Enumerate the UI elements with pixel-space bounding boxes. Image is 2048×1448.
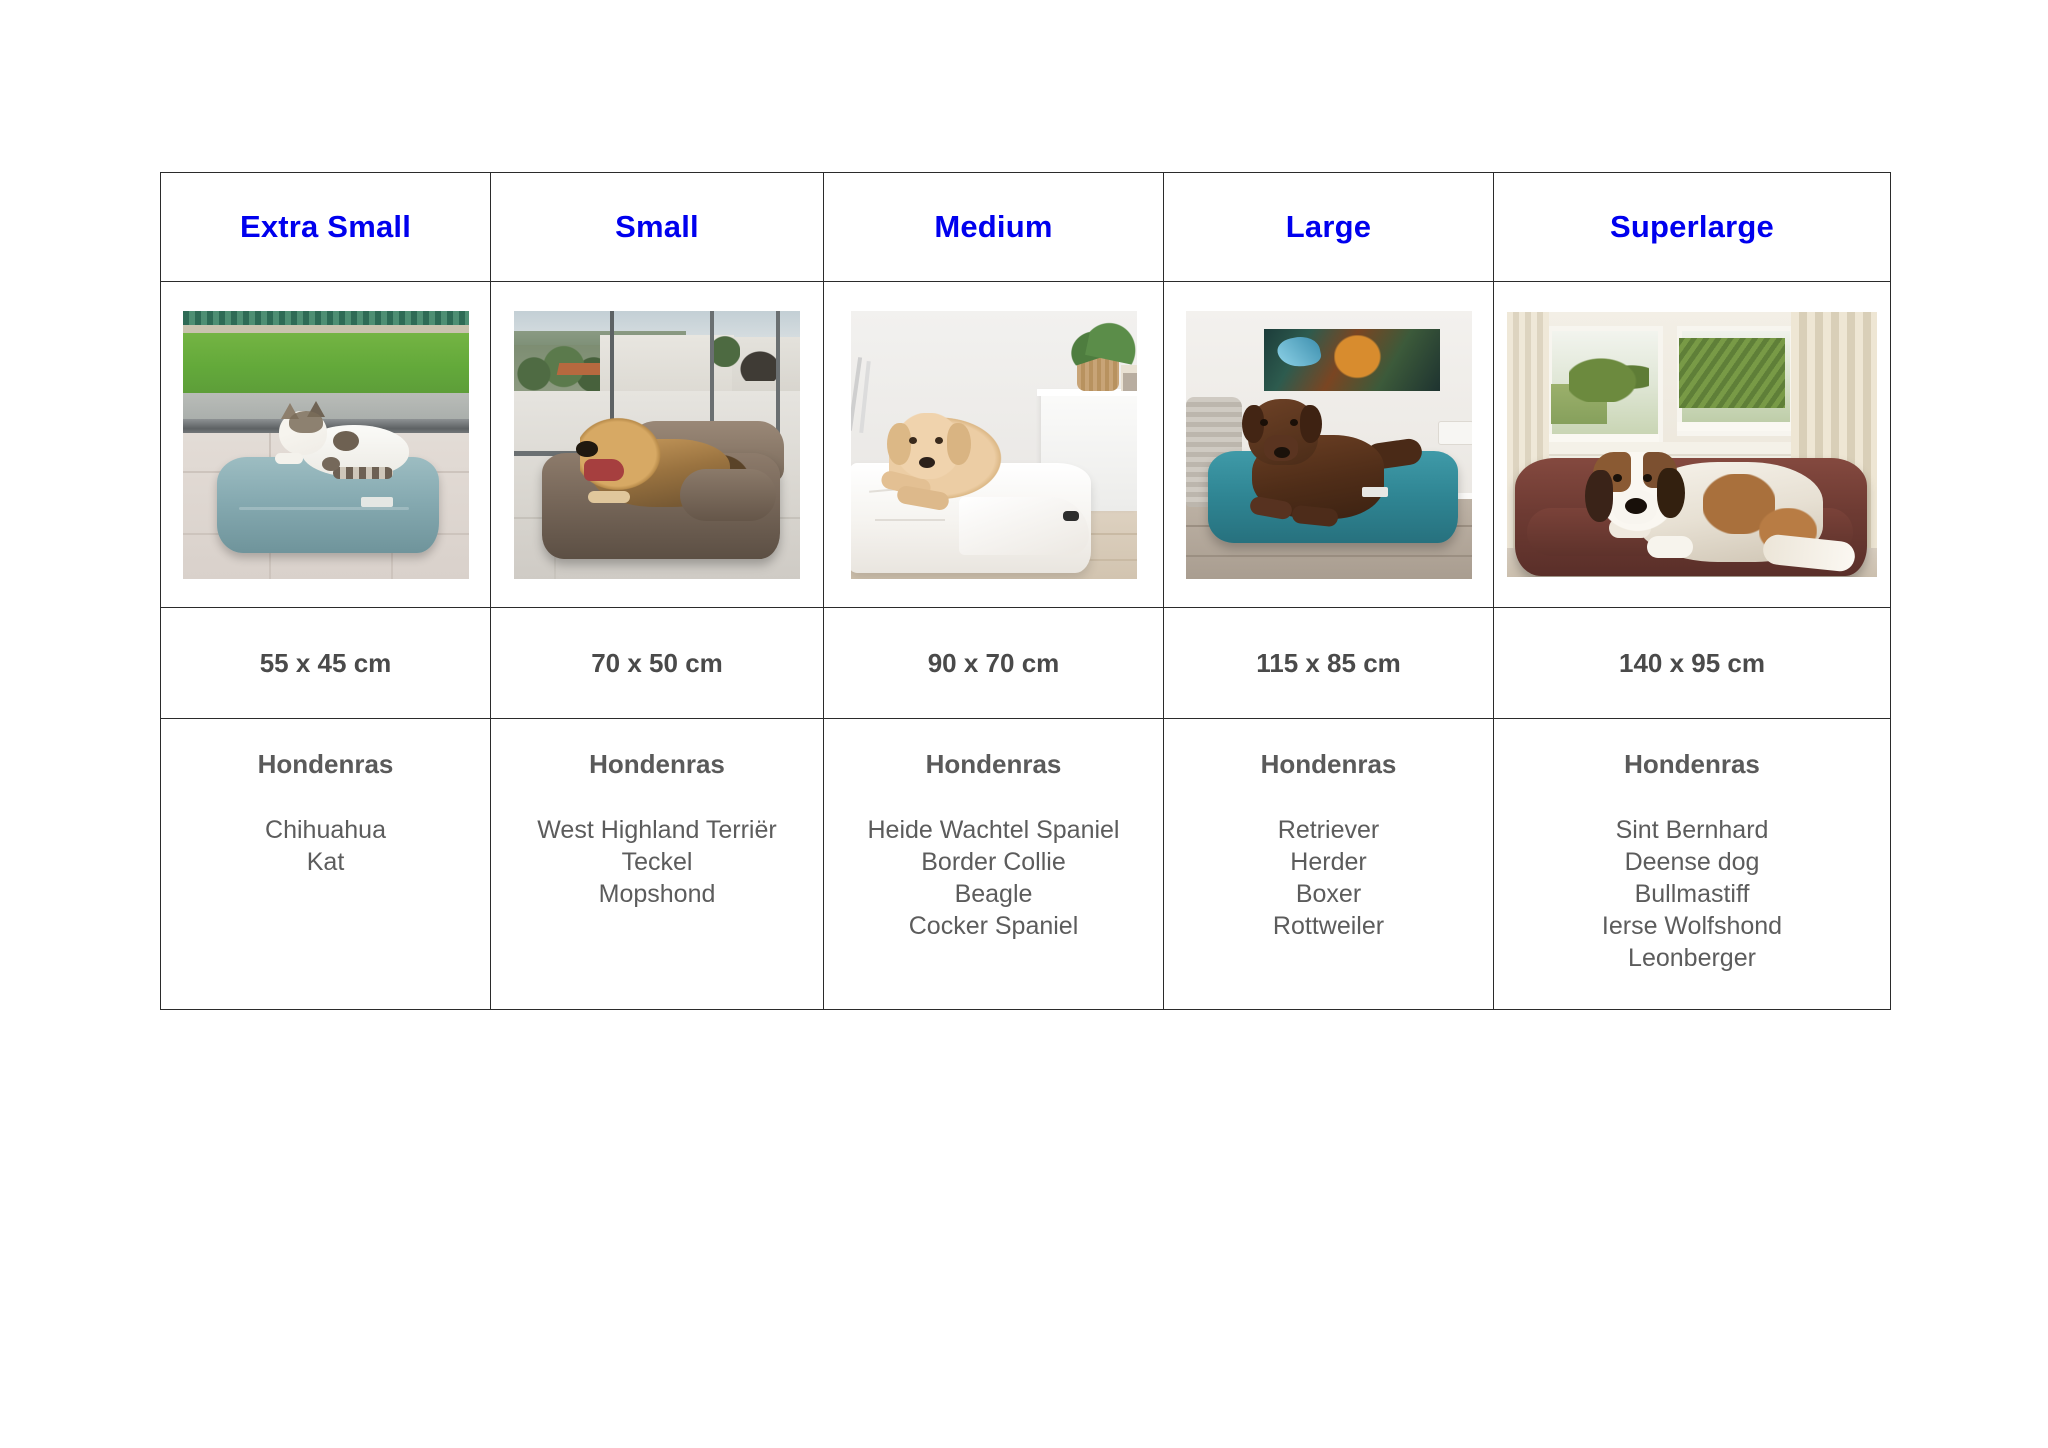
header-cell-large: Large: [1164, 173, 1494, 282]
floor-plank-seam: [1186, 555, 1472, 557]
cat-head-patch: [289, 411, 323, 433]
table-header-row: Extra Small Small Medium Large Superlarg…: [161, 173, 1891, 282]
breed-item: Chihuahua: [167, 814, 484, 846]
size-name-superlarge: Superlarge: [1494, 210, 1890, 244]
header-cell-extra-small: Extra Small: [161, 173, 491, 282]
window-mullion: [776, 311, 780, 441]
bed-armrest: [680, 469, 776, 521]
artwork-highlight: [1334, 335, 1386, 383]
size-name-extra-small: Extra Small: [161, 210, 490, 244]
dog-ear: [1585, 470, 1613, 522]
breed-item: Boxer: [1170, 878, 1487, 910]
dimension-cell-superlarge: 140 x 95 cm: [1494, 608, 1891, 719]
header-cell-medium: Medium: [824, 173, 1164, 282]
breed-block-superlarge: Hondenras Sint Bernhard Deense dog Bullm…: [1494, 719, 1890, 974]
breeds-cell-large: Hondenras Retriever Herder Boxer Rottwei…: [1164, 719, 1494, 1010]
photo-cell-small: [491, 282, 824, 608]
cat-paw: [275, 453, 303, 464]
breed-block-extra-small: Hondenras Chihuahua Kat: [161, 719, 490, 878]
window-sill: [1677, 422, 1791, 431]
puppy-ear: [887, 423, 911, 465]
bed-crease: [239, 507, 409, 510]
puppy-nose: [919, 457, 935, 468]
cat-spot: [322, 457, 340, 471]
photo-wrap-superlarge: [1494, 282, 1890, 607]
photo-wrap-medium: [824, 282, 1163, 607]
dog-ear: [1300, 405, 1322, 443]
shrub: [710, 333, 740, 367]
puppy-ear: [947, 423, 971, 465]
dimension-cell-small: 70 x 50 cm: [491, 608, 824, 719]
photo-cell-extra-small: [161, 282, 491, 608]
breed-item: Sint Bernhard: [1500, 814, 1884, 846]
breed-heading: Hondenras: [1500, 749, 1884, 780]
size-name-small: Small: [491, 210, 823, 244]
lawn: [183, 333, 469, 395]
breeds-cell-superlarge: Hondenras Sint Bernhard Deense dog Bullm…: [1494, 719, 1891, 1010]
breed-block-small: Hondenras West Highland Terriër Teckel M…: [491, 719, 823, 910]
photo-wrap-extra-small: [161, 282, 490, 607]
photo-cockapoo-puppy-on-white-dog-bed: [851, 311, 1137, 579]
power-socket: [1438, 421, 1472, 445]
puppy-eye: [909, 437, 917, 444]
breeds-cell-small: Hondenras West Highland Terriër Teckel M…: [491, 719, 824, 1010]
breed-item: Beagle: [830, 878, 1157, 910]
document-page: Extra Small Small Medium Large Superlarg…: [0, 0, 2048, 1448]
breed-item: Leonberger: [1500, 942, 1884, 974]
hedge: [1569, 350, 1649, 402]
dog-nose: [576, 441, 598, 457]
photo-terrier-on-brown-leather-sofa-bed: [514, 311, 800, 579]
cat-tail: [333, 467, 393, 479]
dog-eye: [1613, 474, 1622, 482]
photo-cell-superlarge: [1494, 282, 1891, 608]
dog-nose: [1274, 447, 1290, 458]
brand-label: [1362, 487, 1388, 497]
cat-spot: [333, 431, 359, 451]
photo-cell-large: [1164, 282, 1494, 608]
breed-item: Deense dog: [1500, 846, 1884, 878]
dog-paw: [588, 491, 630, 503]
bed-zipper-pull: [1063, 511, 1079, 521]
breeds-cell-extra-small: Hondenras Chihuahua Kat: [161, 719, 491, 1010]
size-name-large: Large: [1164, 210, 1493, 244]
breed-item: Mopshond: [497, 878, 817, 910]
dimension-extra-small: 55 x 45 cm: [161, 648, 490, 679]
dog-open-mouth: [584, 459, 624, 481]
breed-item: Heide Wachtel Spaniel: [830, 814, 1157, 846]
bed-flap: [959, 497, 1089, 555]
dimension-cell-extra-small: 55 x 45 cm: [161, 608, 491, 719]
bed-crease: [875, 519, 945, 521]
breed-item: Herder: [1170, 846, 1487, 878]
dimension-cell-large: 115 x 85 cm: [1164, 608, 1494, 719]
photo-chocolate-labrador-on-teal-dog-bed: [1186, 311, 1472, 579]
header-cell-superlarge: Superlarge: [1494, 173, 1891, 282]
breeds-cell-medium: Hondenras Heide Wachtel Spaniel Border C…: [824, 719, 1164, 1010]
dimension-large: 115 x 85 cm: [1164, 648, 1493, 679]
breed-item: Border Collie: [830, 846, 1157, 878]
vase: [1123, 373, 1137, 391]
dog-eye: [1643, 474, 1652, 482]
brand-label: [361, 497, 393, 507]
breed-heading: Hondenras: [167, 749, 484, 780]
photo-wrap-large: [1164, 282, 1493, 607]
dog-nose: [1625, 498, 1647, 514]
breed-item: Teckel: [497, 846, 817, 878]
photo-cat-on-light-blue-dog-bed: [183, 311, 469, 579]
table-photo-row: [161, 282, 1891, 608]
header-cell-small: Small: [491, 173, 824, 282]
dimension-superlarge: 140 x 95 cm: [1494, 648, 1890, 679]
table-breeds-row: Hondenras Chihuahua Kat Hondenras West H…: [161, 719, 1891, 1010]
photo-saint-bernard-on-burgundy-dog-bed: [1507, 312, 1877, 577]
dimension-small: 70 x 50 cm: [491, 648, 823, 679]
dimension-cell-medium: 90 x 70 cm: [824, 608, 1164, 719]
table-dimension-row: 55 x 45 cm 70 x 50 cm 90 x 70 cm 115 x 8…: [161, 608, 1891, 719]
breed-block-large: Hondenras Retriever Herder Boxer Rottwei…: [1164, 719, 1493, 942]
breed-heading: Hondenras: [830, 749, 1157, 780]
size-name-medium: Medium: [824, 210, 1163, 244]
dimension-medium: 90 x 70 cm: [824, 648, 1163, 679]
photo-wrap-small: [491, 282, 823, 607]
dog-bed-size-table: Extra Small Small Medium Large Superlarg…: [160, 172, 1891, 1010]
breed-item: Rottweiler: [1170, 910, 1487, 942]
photo-cell-medium: [824, 282, 1164, 608]
breed-item: Retriever: [1170, 814, 1487, 846]
breed-item: Bullmastiff: [1500, 878, 1884, 910]
potted-plant: [740, 351, 780, 381]
breed-heading: Hondenras: [1170, 749, 1487, 780]
hedge: [1679, 338, 1785, 408]
breed-block-medium: Hondenras Heide Wachtel Spaniel Border C…: [824, 719, 1163, 942]
breed-item: West Highland Terriër: [497, 814, 817, 846]
terrace-path: [183, 393, 469, 421]
breed-heading: Hondenras: [497, 749, 817, 780]
breed-item: Cocker Spaniel: [830, 910, 1157, 942]
breed-item: Kat: [167, 846, 484, 878]
breed-item: Ierse Wolfshond: [1500, 910, 1884, 942]
dog-paw: [1647, 536, 1693, 558]
dog-eye: [1260, 419, 1268, 426]
dog-eye: [1290, 419, 1298, 426]
dog-ear: [1657, 468, 1685, 518]
puppy-eye: [935, 437, 943, 444]
